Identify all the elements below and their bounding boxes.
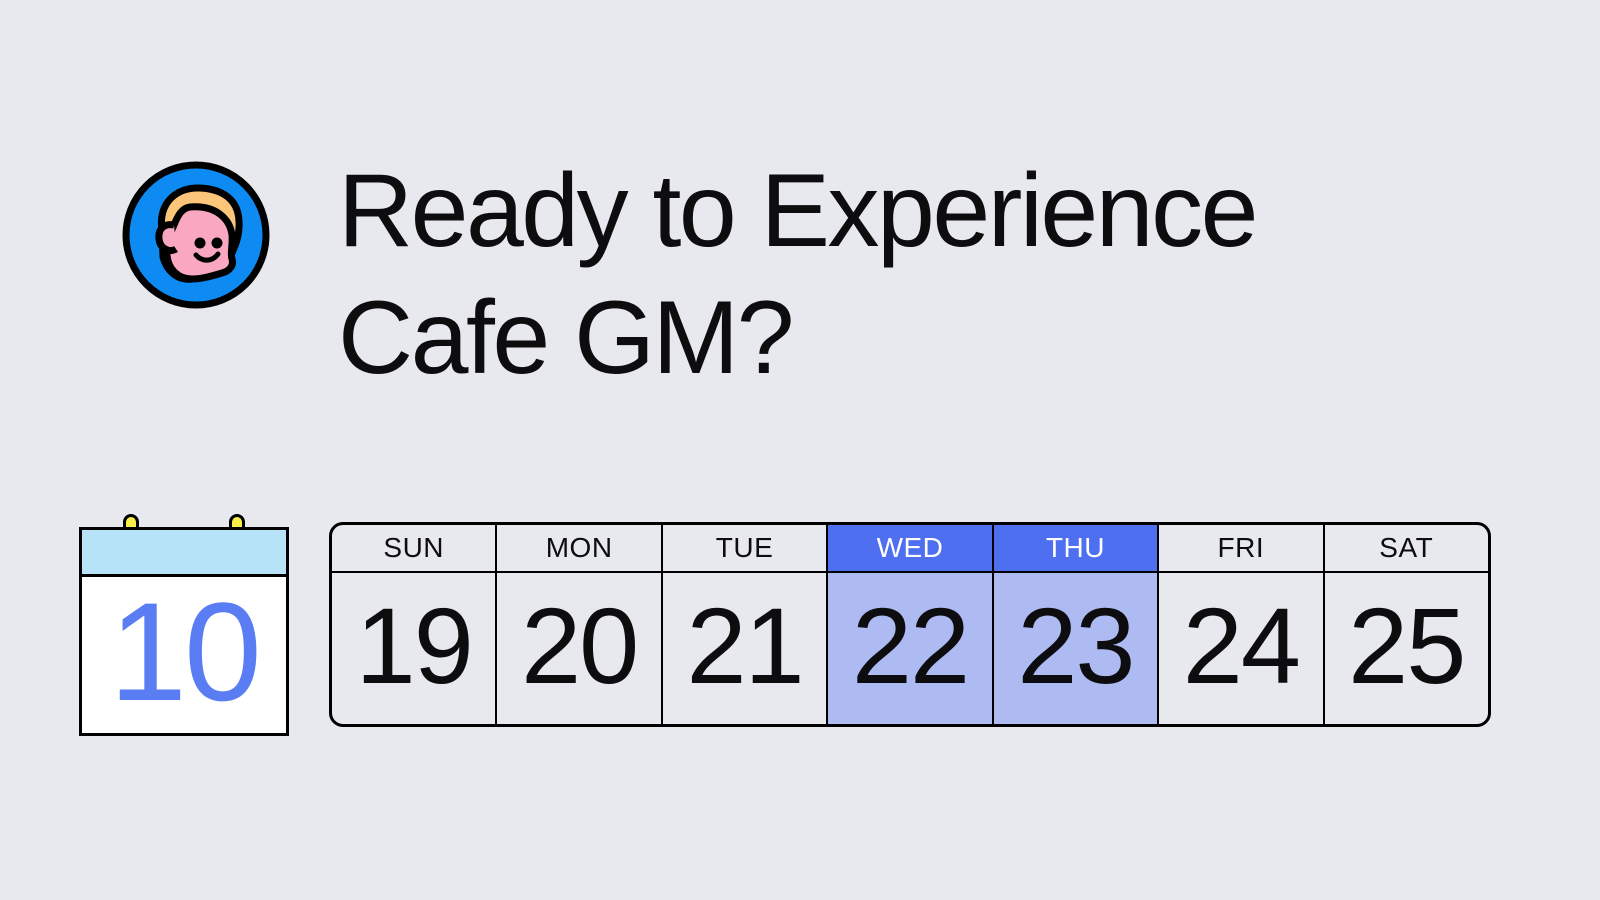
day-number-22[interactable]: 22 — [828, 573, 991, 724]
day-column-thu[interactable]: THU 23 — [994, 525, 1159, 724]
day-name-wed: WED — [828, 525, 991, 573]
day-name-fri: FRI — [1159, 525, 1322, 573]
day-name-mon: MON — [497, 525, 660, 573]
calendar-body: 10 — [79, 527, 289, 736]
headline-line-2: Cafe GM? — [338, 275, 1438, 402]
headline-line-1: Ready to Experience — [338, 148, 1438, 275]
calendar-tear-off-icon: 10 — [79, 508, 289, 736]
day-number-23[interactable]: 23 — [994, 573, 1157, 724]
avatar — [122, 161, 270, 309]
slide-canvas: Ready to Experience Cafe GM? 10 SUN 19 M… — [0, 0, 1600, 900]
day-number-24[interactable]: 24 — [1159, 573, 1322, 724]
day-column-wed[interactable]: WED 22 — [828, 525, 993, 724]
day-column-sat[interactable]: SAT 25 — [1325, 525, 1488, 724]
day-name-sat: SAT — [1325, 525, 1488, 573]
day-name-thu: THU — [994, 525, 1157, 573]
day-name-tue: TUE — [663, 525, 826, 573]
day-number-21[interactable]: 21 — [663, 573, 826, 724]
day-column-fri[interactable]: FRI 24 — [1159, 525, 1324, 724]
day-name-sun: SUN — [332, 525, 495, 573]
person-face-avatar-icon — [122, 161, 270, 309]
calendar-day-number: 10 — [82, 577, 286, 733]
day-column-mon[interactable]: MON 20 — [497, 525, 662, 724]
day-number-19[interactable]: 19 — [332, 573, 495, 724]
day-number-25[interactable]: 25 — [1325, 573, 1488, 724]
page-title: Ready to Experience Cafe GM? — [338, 148, 1438, 402]
day-number-20[interactable]: 20 — [497, 573, 660, 724]
day-column-tue[interactable]: TUE 21 — [663, 525, 828, 724]
week-strip[interactable]: SUN 19 MON 20 TUE 21 WED 22 THU 23 FRI 2… — [329, 522, 1491, 727]
day-column-sun[interactable]: SUN 19 — [332, 525, 497, 724]
header-block: Ready to Experience Cafe GM? — [0, 0, 1600, 430]
calendar-header-bar — [82, 530, 286, 577]
